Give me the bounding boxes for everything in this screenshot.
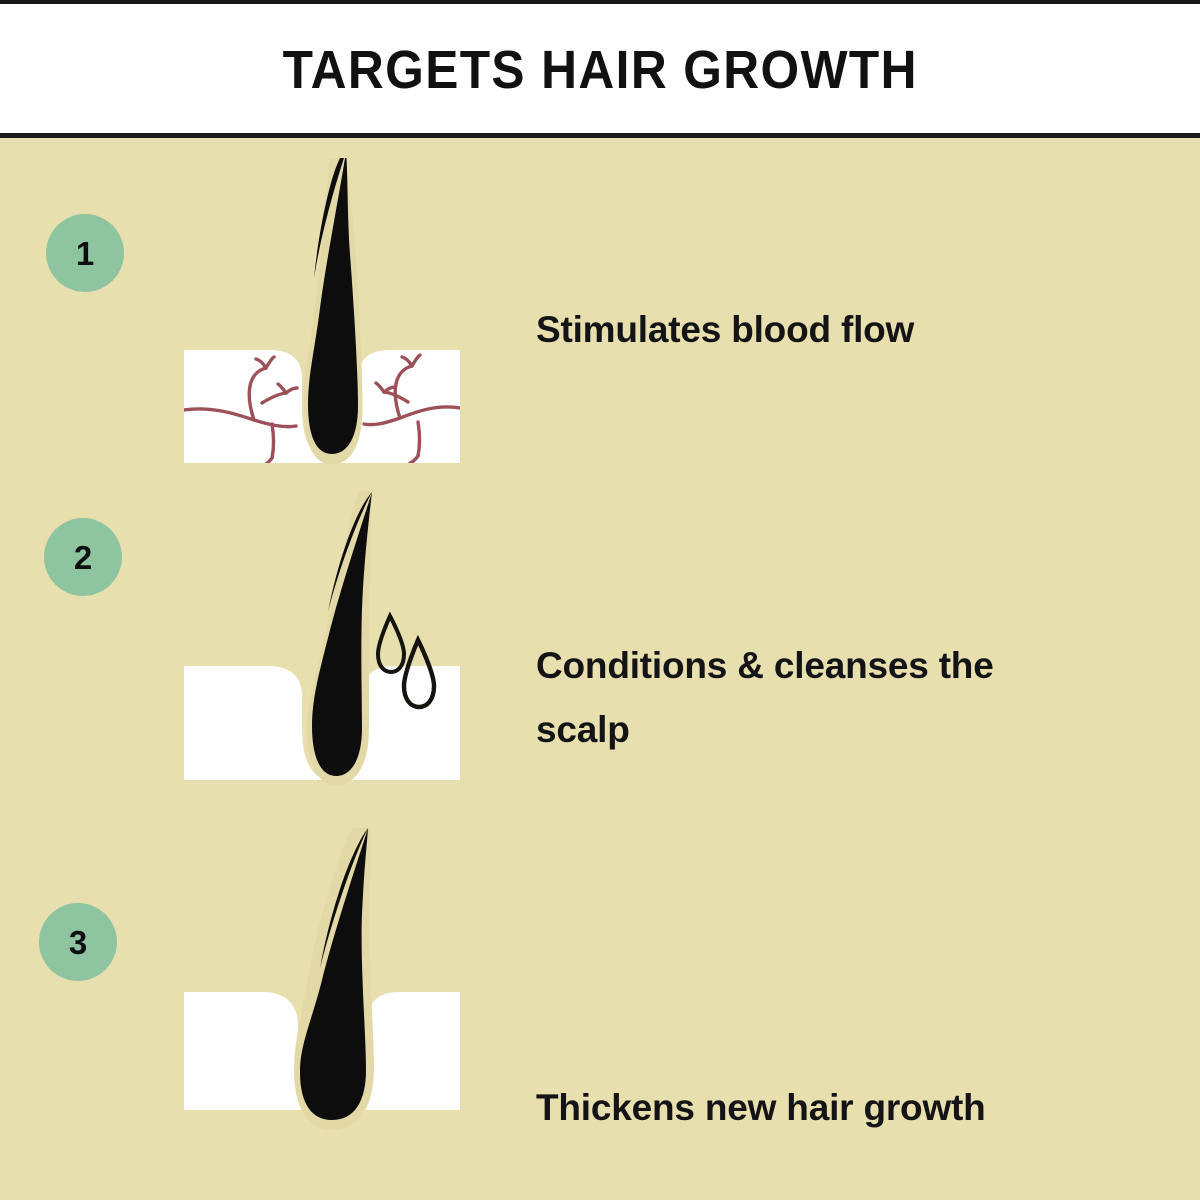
step-number-badge-2: 2 bbox=[44, 518, 122, 596]
page-title: TARGETS HAIR GROWTH bbox=[282, 39, 917, 101]
step-number-badge-3: 3 bbox=[39, 903, 117, 981]
hair-follicle-blood-vessels-icon bbox=[150, 158, 480, 478]
step-number-label-1: 1 bbox=[76, 237, 94, 270]
header-bar: TARGETS HAIR GROWTH bbox=[0, 0, 1200, 134]
step-row-3: 3 Thickens new hair growth bbox=[0, 828, 1200, 1200]
step-row-2: 2 Conditions & cleanses the scalp bbox=[0, 488, 1200, 828]
hair-follicle-water-droplets-icon bbox=[150, 488, 480, 818]
header-top-rule bbox=[0, 0, 1200, 4]
step-caption-2: Conditions & cleanses the scalp bbox=[536, 634, 1096, 761]
step-caption-1: Stimulates blood flow bbox=[536, 298, 1096, 362]
steps-container: 1 bbox=[0, 138, 1200, 1200]
water-droplet-1-icon bbox=[378, 616, 404, 672]
step-number-label-3: 3 bbox=[69, 926, 87, 959]
hair-follicle-thick-hair-icon bbox=[150, 828, 480, 1188]
step-number-label-2: 2 bbox=[74, 541, 92, 574]
step-row-1: 1 bbox=[0, 158, 1200, 498]
step-number-badge-1: 1 bbox=[46, 214, 124, 292]
infographic-page: TARGETS HAIR GROWTH 1 bbox=[0, 0, 1200, 1200]
step-caption-3: Thickens new hair growth bbox=[536, 1076, 1096, 1140]
